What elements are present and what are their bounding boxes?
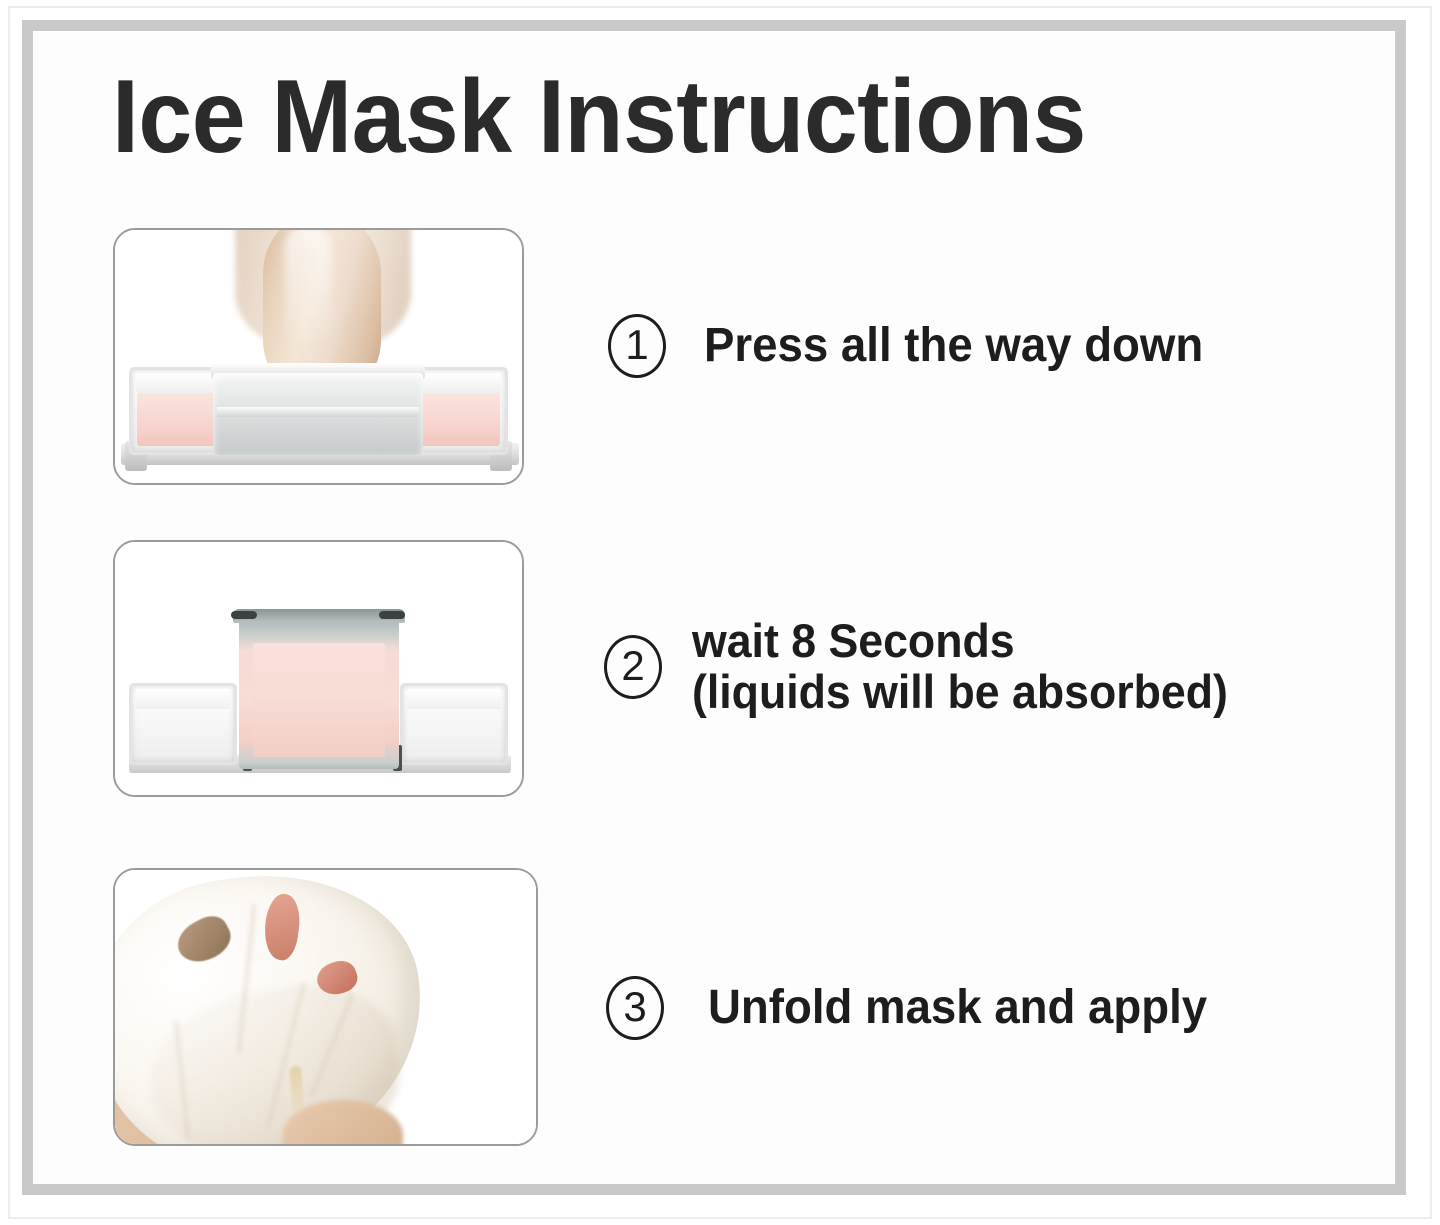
step-row-2: 2 wait 8 Seconds (liquids will be absorb… (0, 534, 1440, 814)
step-2-text: 2 wait 8 Seconds (liquids will be absorb… (604, 616, 1256, 718)
instruction-poster: Ice Mask Instructions (0, 0, 1440, 1225)
pouch-corner-left (231, 611, 257, 619)
step-1-label: Press all the way down (704, 320, 1203, 372)
step-2-label: wait 8 Seconds (liquids will be absorbed… (692, 616, 1228, 718)
pink-liquid-fill (253, 643, 385, 757)
step-2-label-line1: wait 8 Seconds (692, 614, 1015, 667)
step-row-3: 3 Unfold mask and apply (0, 864, 1440, 1154)
step-2-illustration (115, 542, 522, 795)
step-2-number-badge: 2 (604, 635, 662, 699)
center-compressed-pouch (213, 373, 423, 455)
step-3-illustration (115, 870, 536, 1144)
page-title: Ice Mask Instructions (112, 62, 1086, 172)
step-3-image-card (113, 868, 538, 1146)
step-2-label-line2: (liquids will be absorbed) (692, 667, 1228, 718)
step-1-text: 1 Press all the way down (608, 314, 1230, 378)
step-1-image-card (113, 228, 524, 485)
step-1-number-badge: 1 (608, 314, 666, 378)
saturated-mask-pouch (239, 617, 399, 769)
tray-cell-left (129, 683, 237, 765)
step-3-label: Unfold mask and apply (708, 982, 1207, 1034)
step-3-text: 3 Unfold mask and apply (606, 976, 1233, 1040)
step-3-number-badge: 3 (606, 976, 664, 1040)
step-row-1: 1 Press all the way down (0, 222, 1440, 502)
step-2-image-card (113, 540, 524, 797)
cell-gloss-right (407, 689, 501, 709)
pouch-corner-right (379, 611, 405, 619)
cell-gloss-left (136, 689, 230, 709)
tray-cell-right (400, 683, 508, 765)
step-1-illustration (115, 230, 522, 483)
